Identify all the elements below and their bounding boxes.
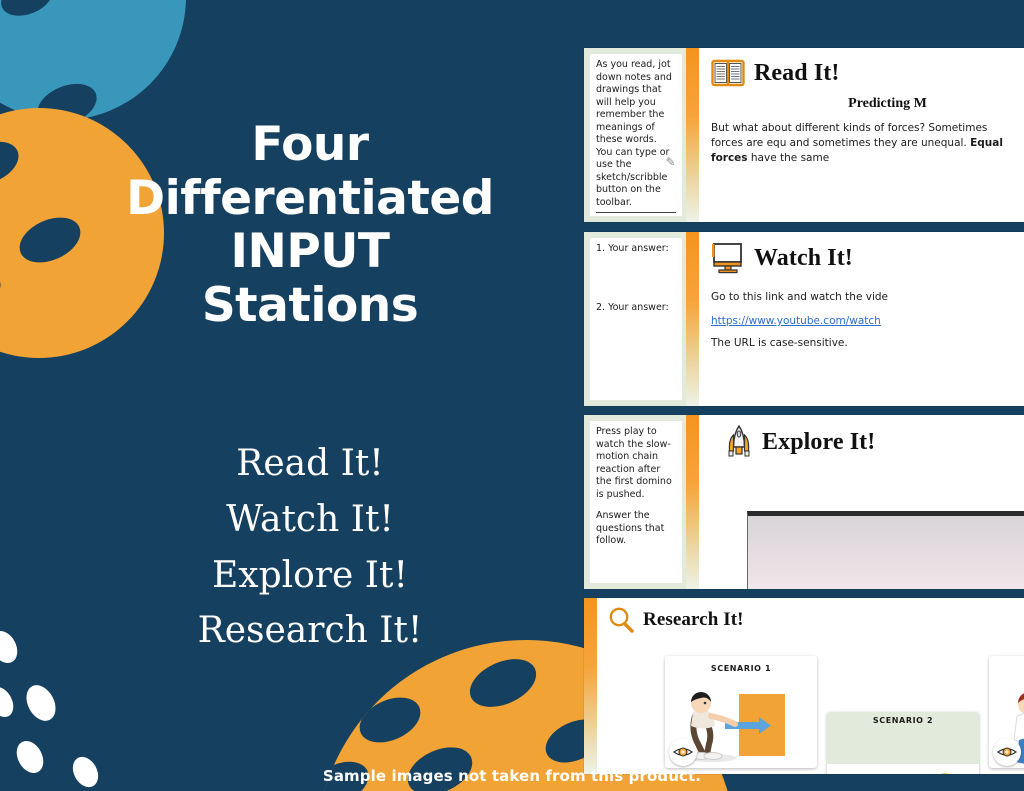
slide-card-research-it: Research It! SCENARIO 1 <box>584 598 1024 774</box>
headline-line-3: INPUT <box>40 225 580 279</box>
open-book-icon <box>711 58 745 88</box>
scenario-3-eye-badge[interactable] <box>993 738 1021 766</box>
eye-icon <box>673 745 693 759</box>
explore-it-slide-pane: Explore It! <box>686 415 1024 589</box>
read-it-note: As you read, jot down notes and drawings… <box>590 54 682 216</box>
explore-it-paragraph-2: Answer the questions that follow. <box>596 510 676 548</box>
magnifying-glass-icon <box>607 606 635 634</box>
station-item-research-it: Research It! <box>40 603 580 659</box>
station-item-read-it: Read It! <box>40 436 580 492</box>
scribble-pencil-icon: ✎ <box>663 155 678 170</box>
scenario-1-label: SCENARIO 1 <box>665 656 817 673</box>
poster-canvas: Four Differentiated INPUT Stations Read … <box>0 0 1024 791</box>
read-it-subtitle: Predicting M <box>761 96 1014 112</box>
station-item-explore-it: Explore It! <box>40 548 580 604</box>
watch-it-header: Watch It! <box>711 242 1014 274</box>
read-it-instructions: As you read, jot down notes and drawings… <box>596 59 676 209</box>
slide-card-explore-it: Press play to watch the slow-motion chai… <box>584 415 1024 589</box>
watch-it-instruction: Go to this link and watch the vide <box>711 290 1014 305</box>
explore-it-slide-body: Explore It! <box>699 415 1024 589</box>
research-scenario-row: SCENARIO 1 <box>665 656 1024 774</box>
scenario-1-eye-badge[interactable] <box>669 738 697 766</box>
explore-it-note: Press play to watch the slow-motion chai… <box>590 421 682 583</box>
read-it-note-pane: As you read, jot down notes and drawings… <box>584 48 686 222</box>
read-it-slide-pane: Read It! Predicting M But what about dif… <box>686 48 1024 222</box>
watch-it-slide-body: Watch It! Go to this link and watch the … <box>699 232 1024 406</box>
explore-it-note-pane: Press play to watch the slow-motion chai… <box>584 415 686 589</box>
scenario-2-label: SCENARIO 2 <box>827 712 979 725</box>
scenario-card-3[interactable] <box>989 656 1024 768</box>
read-it-header: Read It! <box>711 58 1014 88</box>
watch-it-note: 1. Your answer: 2. Your answer: <box>590 238 682 400</box>
scenario-card-1[interactable]: SCENARIO 1 <box>665 656 817 768</box>
headline-line-2: Differentiated <box>40 172 580 226</box>
read-it-paragraph-tail: have the same <box>748 152 830 164</box>
read-it-slide-body: Read It! Predicting M But what about dif… <box>699 48 1024 222</box>
explore-it-header: Explore It! <box>711 425 1014 459</box>
read-it-paragraph: But what about different kinds of forces… <box>711 121 1014 166</box>
station-item-watch-it: Watch It! <box>40 492 580 548</box>
research-it-slide-body: Research It! SCENARIO 1 <box>597 598 1024 774</box>
page-title: Four Differentiated INPUT Stations <box>40 118 580 332</box>
orange-accent-strip <box>686 415 699 589</box>
research-it-title: Research It! <box>643 609 744 631</box>
explore-it-title: Explore It! <box>762 429 875 456</box>
orange-accent-strip <box>584 598 597 774</box>
orange-accent-strip <box>686 48 699 222</box>
read-it-title: Read It! <box>754 60 839 87</box>
slide-card-watch-it: 1. Your answer: 2. Your answer: <box>584 232 1024 406</box>
computer-monitor-icon <box>711 242 745 274</box>
headline-line-1: Four <box>40 118 580 172</box>
orange-accent-strip <box>686 232 699 406</box>
note-divider <box>596 212 676 213</box>
sample-slides-column: As you read, jot down notes and drawings… <box>584 0 1024 791</box>
slide-card-read-it: As you read, jot down notes and drawings… <box>584 48 1024 222</box>
explore-it-video-preview[interactable] <box>747 511 1024 589</box>
station-list: Read It! Watch It! Explore It! Research … <box>40 436 580 659</box>
watch-it-answer-2: 2. Your answer: <box>596 302 676 315</box>
research-it-slide-pane: Research It! SCENARIO 1 <box>584 598 1024 774</box>
footer-disclaimer: Sample images not taken from this produc… <box>0 767 1024 785</box>
watch-it-video-link[interactable]: https://www.youtube.com/watch <box>711 315 1014 327</box>
watch-it-case-note: The URL is case-sensitive. <box>711 337 1014 349</box>
watch-it-title: Watch It! <box>754 245 853 272</box>
watch-it-note-pane: 1. Your answer: 2. Your answer: <box>584 232 686 406</box>
scenario-card-2[interactable]: SCENARIO 2 <box>827 712 979 774</box>
headline-line-4: Stations <box>40 279 580 333</box>
eye-icon <box>997 745 1017 759</box>
rocket-shuttle-icon <box>725 425 753 459</box>
answer-space <box>596 258 676 302</box>
left-text-column: Four Differentiated INPUT Stations Read … <box>0 0 584 791</box>
scenario-3-label <box>989 656 1024 664</box>
research-it-header: Research It! <box>597 598 1024 634</box>
explore-it-paragraph-1: Press play to watch the slow-motion chai… <box>596 426 676 501</box>
read-it-paragraph-lead: But what about different kinds of forces… <box>711 122 987 149</box>
watch-it-slide-pane: Watch It! Go to this link and watch the … <box>686 232 1024 406</box>
watch-it-answer-1: 1. Your answer: <box>596 243 676 256</box>
